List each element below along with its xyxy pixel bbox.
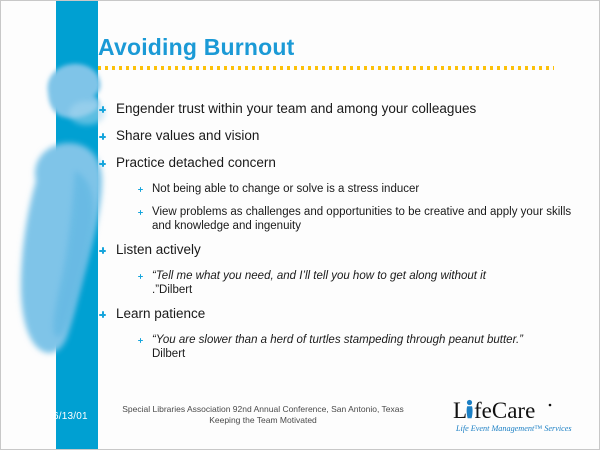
list-item: Practice detached concern: [98, 155, 578, 171]
sub-list-item-label: View problems as challenges and opportun…: [152, 206, 571, 232]
page-title: Avoiding Burnout: [98, 34, 295, 61]
list-item-label: Engender trust within your team and amon…: [116, 101, 476, 116]
diamond-bullet-icon: [99, 247, 106, 254]
list-item-label: Share values and vision: [116, 128, 259, 143]
bullet-list: Engender trust within your team and amon…: [98, 101, 578, 370]
small-diamond-bullet-icon: [138, 338, 143, 343]
small-diamond-bullet-icon: [138, 274, 143, 279]
sub-list-item: Not being able to change or solve is a s…: [134, 182, 578, 196]
list-item: Learn patience: [98, 306, 578, 322]
svg-text:L: L: [453, 398, 467, 423]
sub-list-item-label: Not being able to change or solve is a s…: [152, 183, 419, 195]
small-diamond-bullet-icon: [138, 210, 143, 215]
quote-text: “You are slower than a herd of turtles s…: [152, 334, 523, 346]
footer-line-conference: Special Libraries Association 92nd Annua…: [98, 404, 428, 415]
diamond-bullet-icon: [99, 311, 106, 318]
quote-text: “Tell me what you need, and I’ll tell yo…: [152, 270, 486, 282]
list-item-label: Listen actively: [116, 242, 201, 257]
diamond-bullet-icon: [99, 160, 106, 167]
list-item: Listen actively: [98, 242, 578, 258]
presentation-slide: 6/13/01 Avoiding Burnout Engender trust …: [0, 0, 600, 450]
sub-list: “Tell me what you need, and I’ll tell yo…: [98, 269, 578, 297]
title-dotted-divider: [98, 66, 554, 70]
quote-attribution: Dilbert: [152, 348, 185, 360]
footer-line-subtitle: Keeping the Team Motivated: [98, 415, 428, 426]
diamond-bullet-icon: [99, 106, 106, 113]
svg-text:feCare: feCare: [474, 398, 535, 423]
list-item: Engender trust within your team and amon…: [98, 101, 578, 117]
footer: Special Libraries Association 92nd Annua…: [98, 404, 428, 426]
list-item-label: Learn patience: [116, 306, 205, 321]
small-diamond-bullet-icon: [138, 187, 143, 192]
sub-list-item-quote: “You are slower than a herd of turtles s…: [134, 333, 578, 361]
diamond-bullet-icon: [99, 133, 106, 140]
sub-list-item: View problems as challenges and opportun…: [134, 205, 578, 233]
logo-tagline: Life Event Management™ Services: [455, 424, 572, 433]
sub-list: “You are slower than a herd of turtles s…: [98, 333, 578, 361]
list-item: Share values and vision: [98, 128, 578, 144]
list-item-label: Practice detached concern: [116, 155, 276, 170]
left-accent-bar: [56, 1, 98, 450]
sub-list-item-quote: “Tell me what you need, and I’ll tell yo…: [134, 269, 578, 297]
lifecare-logo: L feCare Life Event Management™ Services: [453, 396, 575, 438]
sub-list: Not being able to change or solve is a s…: [98, 182, 578, 233]
quote-attribution: .”Dilbert: [152, 284, 192, 296]
